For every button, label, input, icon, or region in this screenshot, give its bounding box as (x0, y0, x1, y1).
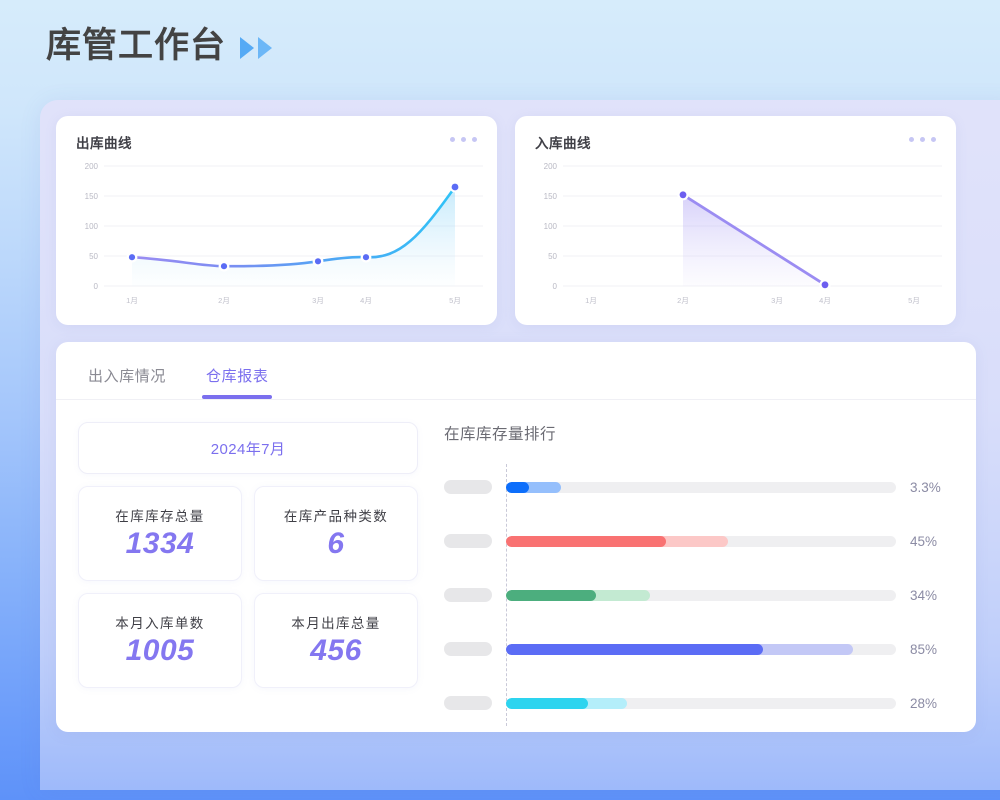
ranking-percent: 45% (896, 534, 952, 549)
stat-value: 6 (327, 527, 344, 562)
outbound-chart-card: 出库曲线 (56, 116, 497, 325)
svg-text:200: 200 (85, 162, 99, 171)
inbound-chart-plot: 200 150 100 50 0 1月 (529, 156, 942, 316)
y-axis-labels: 200 150 100 50 0 (544, 162, 558, 291)
ranking-row[interactable]: 85% (444, 622, 952, 676)
tab-inout-status[interactable]: 出入库情况 (88, 365, 166, 398)
chart-header: 入库曲线 (529, 132, 942, 152)
ranking-bar-track (506, 698, 896, 709)
ranking-row[interactable]: 34% (444, 568, 952, 622)
report-panel: 出入库情况 仓库报表 2024年7月 在库库存总量 1334 在库产品种类数 6 (56, 342, 976, 732)
ranking-label-placeholder (444, 696, 492, 710)
ranking-bar-fill (506, 590, 596, 601)
ranking-label-placeholder (444, 480, 492, 494)
svg-text:200: 200 (544, 162, 558, 171)
ranking-list: 3.3% 45% (444, 460, 952, 730)
svg-text:150: 150 (85, 192, 99, 201)
stat-value: 1334 (126, 527, 195, 562)
ranking-bar-track (506, 644, 896, 655)
ranking-bar-fill (506, 644, 763, 655)
stat-value: 456 (310, 634, 362, 669)
svg-text:100: 100 (544, 222, 558, 231)
date-selector[interactable]: 2024年7月 (78, 422, 418, 474)
x-axis-labels: 1月 2月 3月 4月 5月 (585, 296, 920, 305)
report-body: 2024年7月 在库库存总量 1334 在库产品种类数 6 本月入库单数 100… (56, 400, 976, 730)
double-right-arrow-icon (240, 37, 272, 59)
svg-text:1月: 1月 (585, 296, 597, 305)
ranking-row[interactable]: 28% (444, 676, 952, 730)
inbound-line-chart: 200 150 100 50 0 1月 (529, 156, 942, 316)
stat-label: 在库产品种类数 (284, 505, 388, 525)
inbound-chart-card: 入库曲线 (515, 116, 956, 325)
arrow-triangle-1 (240, 37, 254, 59)
stats-column: 2024年7月 在库库存总量 1334 在库产品种类数 6 本月入库单数 100… (78, 422, 418, 730)
more-dots-icon[interactable] (909, 132, 936, 142)
ranking-bar-track (506, 536, 896, 547)
date-selector-label: 2024年7月 (211, 438, 286, 459)
svg-text:100: 100 (85, 222, 99, 231)
outbound-chart-plot: 200 150 100 50 0 (70, 156, 483, 316)
area-fill (132, 187, 455, 286)
x-axis-labels: 1月 2月 3月 4月 5月 (126, 296, 461, 305)
svg-text:4月: 4月 (819, 296, 831, 305)
svg-text:3月: 3月 (771, 296, 783, 305)
stat-label: 本月入库单数 (115, 612, 204, 632)
stat-label: 本月出库总量 (291, 612, 380, 632)
page-header: 库管工作台 (46, 28, 272, 63)
svg-text:1月: 1月 (126, 296, 138, 305)
y-axis-labels: 200 150 100 50 0 (85, 162, 99, 291)
stat-card-product-types[interactable]: 在库产品种类数 6 (254, 486, 418, 581)
ranking-bar-track (506, 590, 896, 601)
ranking-bar-fill (506, 536, 666, 547)
ranking-percent: 85% (896, 642, 952, 657)
svg-text:0: 0 (94, 282, 99, 291)
ranking-row[interactable]: 3.3% (444, 460, 952, 514)
more-dots-icon[interactable] (450, 132, 477, 142)
tab-warehouse-report[interactable]: 仓库报表 (206, 365, 268, 398)
svg-text:5月: 5月 (908, 296, 920, 305)
stat-card-total-stock[interactable]: 在库库存总量 1334 (78, 486, 242, 581)
stat-card-month-inbound-orders[interactable]: 本月入库单数 1005 (78, 593, 242, 688)
ranking-label-placeholder (444, 588, 492, 602)
svg-text:50: 50 (548, 252, 557, 261)
charts-row: 出库曲线 (56, 116, 976, 325)
ranking-label-placeholder (444, 534, 492, 548)
ranking-percent: 28% (896, 696, 952, 711)
ranking-percent: 34% (896, 588, 952, 603)
svg-text:2月: 2月 (677, 296, 689, 305)
stat-card-month-outbound-total[interactable]: 本月出库总量 456 (254, 593, 418, 688)
chart-title: 入库曲线 (535, 132, 591, 152)
ranking-label-placeholder (444, 642, 492, 656)
ranking-column: 在库库存量排行 3.3% (436, 422, 952, 730)
ranking-bar-fill (506, 482, 529, 493)
svg-text:50: 50 (89, 252, 98, 261)
stat-label: 在库库存总量 (115, 505, 204, 525)
ranking-bar-fill (506, 698, 588, 709)
chart-title: 出库曲线 (76, 132, 132, 152)
chart-header: 出库曲线 (70, 132, 483, 152)
tab-bar: 出入库情况 仓库报表 (56, 342, 976, 400)
ranking-row[interactable]: 45% (444, 514, 952, 568)
stat-value: 1005 (126, 634, 195, 669)
page-title: 库管工作台 (46, 28, 226, 63)
ranking-percent: 3.3% (896, 480, 952, 495)
svg-text:0: 0 (553, 282, 558, 291)
ranking-title: 在库库存量排行 (444, 422, 952, 444)
app-panel: 出库曲线 (40, 100, 1000, 790)
outbound-line-chart: 200 150 100 50 0 (70, 156, 483, 316)
svg-text:3月: 3月 (312, 296, 324, 305)
stat-grid: 在库库存总量 1334 在库产品种类数 6 本月入库单数 1005 本月出库总量… (78, 486, 418, 688)
svg-text:2月: 2月 (218, 296, 230, 305)
arrow-triangle-2 (258, 37, 272, 59)
svg-text:4月: 4月 (360, 296, 372, 305)
svg-text:150: 150 (544, 192, 558, 201)
svg-text:5月: 5月 (449, 296, 461, 305)
ranking-bar-track (506, 482, 896, 493)
